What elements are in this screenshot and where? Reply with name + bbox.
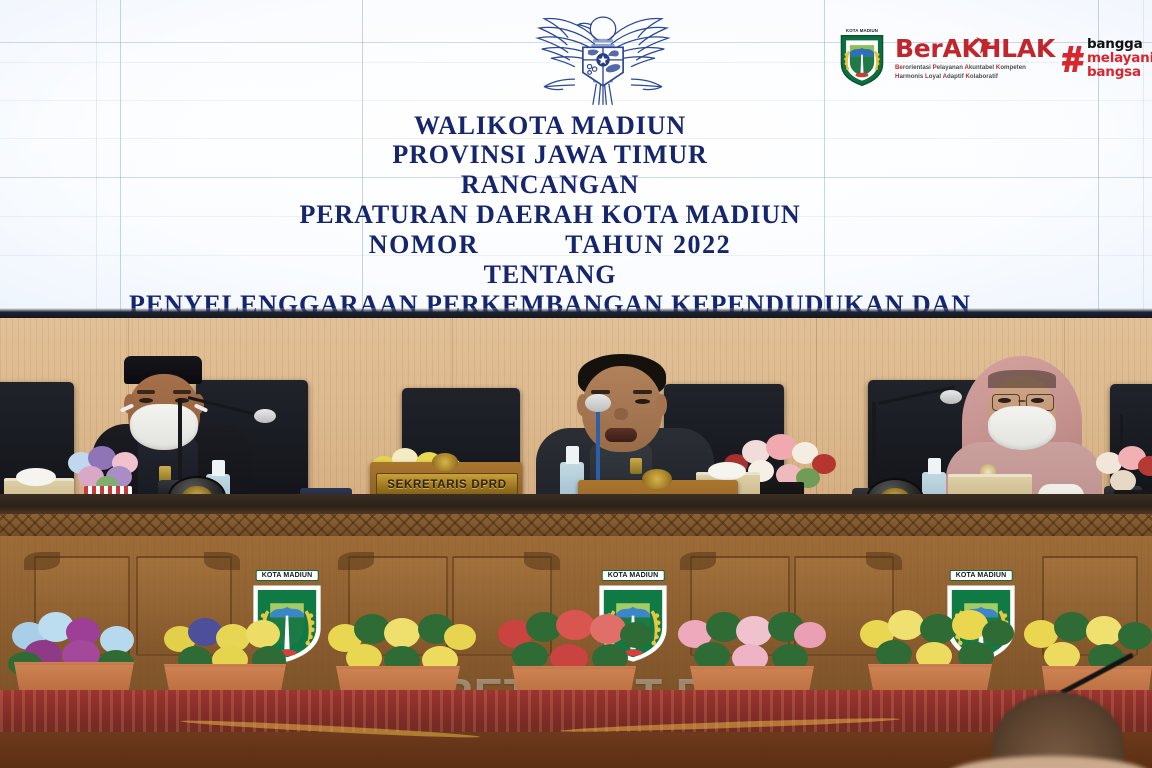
meeting-photo: KOTA MADIUN xyxy=(0,0,1152,768)
flower xyxy=(384,618,420,648)
kota-madiun-shield-logo: KOTA MADIUN xyxy=(836,28,888,90)
planter-foliage-5 xyxy=(676,612,826,674)
tagline-line-1: Berorientasi Pelayanan Akuntabel Kompete… xyxy=(895,64,1055,72)
nameplate-crest xyxy=(642,469,672,489)
leaf xyxy=(920,614,956,644)
slide-tahun: TAHUN 2022 xyxy=(565,231,731,258)
corbel xyxy=(680,552,716,570)
leaf xyxy=(982,620,1014,646)
corbel xyxy=(338,552,374,570)
bottle-pump xyxy=(928,458,941,474)
mic-head xyxy=(940,390,962,404)
slide-line-rancangan: RANCANGAN xyxy=(0,171,1100,198)
planter-foliage-7 xyxy=(1022,612,1152,674)
open-mouth xyxy=(605,428,637,442)
flower xyxy=(1138,456,1152,476)
berakhlak-logo-lockup: KOTA MADIUN xyxy=(836,22,1136,96)
flower xyxy=(1086,616,1122,646)
leaf xyxy=(512,642,548,670)
slide-line-nomor-tahun: NOMORTAHUN 2022 xyxy=(0,231,1100,258)
eye-right xyxy=(1031,398,1044,403)
tissue-sheet xyxy=(708,462,746,480)
corbel xyxy=(866,552,902,570)
mic-post xyxy=(872,402,876,490)
shield-label: KOTA MADIUN xyxy=(256,570,319,581)
berakhlak-tagline: Berorientasi Pelayanan Akuntabel Kompete… xyxy=(895,64,1055,80)
corbel xyxy=(524,552,560,570)
tissue-sheet xyxy=(16,468,56,486)
hash-icon xyxy=(1062,44,1085,74)
nose xyxy=(614,408,628,420)
mic-head xyxy=(254,409,276,423)
projection-screen: KOTA MADIUN xyxy=(0,0,1152,318)
flower xyxy=(766,434,796,460)
flower xyxy=(1110,470,1136,492)
eye-left xyxy=(139,398,153,403)
slide-line-peraturan: PERATURAN DAERAH KOTA MADIUN xyxy=(0,201,1100,228)
eyebrow-right xyxy=(633,390,652,394)
mic-post xyxy=(178,398,182,482)
face-mask xyxy=(988,406,1056,450)
eye-right xyxy=(635,399,650,404)
slogan-words: bangga melayani bangsa xyxy=(1087,38,1152,79)
flower xyxy=(1044,642,1080,670)
slide-line-walikota: WALIKOTA MADIUN xyxy=(0,112,1100,139)
bottle-pump xyxy=(566,446,579,464)
corbel xyxy=(24,552,60,570)
flower xyxy=(246,620,280,648)
eye-left xyxy=(998,398,1011,403)
slide-line-tentang: TENTANG xyxy=(0,261,1100,288)
slogan-line-3: bangsa xyxy=(1087,66,1152,80)
flower xyxy=(444,624,476,650)
nameplate-crest xyxy=(432,453,458,471)
flower xyxy=(556,610,594,640)
mic-head xyxy=(585,394,611,412)
tagline-line-2: Harmonis Loyal Adaptif Kolaboratif xyxy=(895,73,1055,81)
fringe xyxy=(988,370,1056,388)
planter-foliage-4 xyxy=(496,610,652,674)
council-chamber: SEKRETARIS DPRD PIMPINAN RAPAT xyxy=(0,318,1152,768)
leaf xyxy=(620,622,652,648)
flower xyxy=(736,616,772,646)
leaf xyxy=(1118,622,1152,650)
slide-nomor: NOMOR xyxy=(369,231,479,258)
slide-headline-block: WALIKOTA MADIUN PROVINSI JAWA TIMUR RANC… xyxy=(0,112,1100,318)
leaf xyxy=(1054,612,1090,642)
eyebrow-right xyxy=(173,390,191,394)
eyebrow-left xyxy=(137,390,155,394)
face-mask xyxy=(130,404,198,450)
flower xyxy=(888,610,924,640)
glasses-bridge xyxy=(1018,400,1026,402)
corbel xyxy=(204,552,240,570)
lapel-pin xyxy=(630,458,642,474)
swoosh-icon xyxy=(975,36,992,55)
leaf xyxy=(694,642,730,670)
screen-bottom-edge xyxy=(0,308,1152,318)
garuda-pancasila-emblem xyxy=(519,2,687,106)
shield-label: KOTA MADIUN xyxy=(602,570,665,581)
planter-foliage-6 xyxy=(858,610,1014,672)
shield-label: KOTA MADIUN xyxy=(950,570,1013,581)
berakhlak-wordmark: BerAKHLAK Berorientasi Pelayanan Akuntab… xyxy=(895,37,1055,80)
slide-line-provinsi: PROVINSI JAWA TIMUR xyxy=(0,141,1100,168)
shield-caption: KOTA MADIUN xyxy=(846,28,878,33)
leaf xyxy=(876,640,912,668)
flower xyxy=(794,622,826,648)
bangga-melayani-bangsa-logo: bangga melayani bangsa xyxy=(1062,38,1152,79)
bottle-pump xyxy=(212,460,225,476)
ear-right xyxy=(656,394,667,416)
